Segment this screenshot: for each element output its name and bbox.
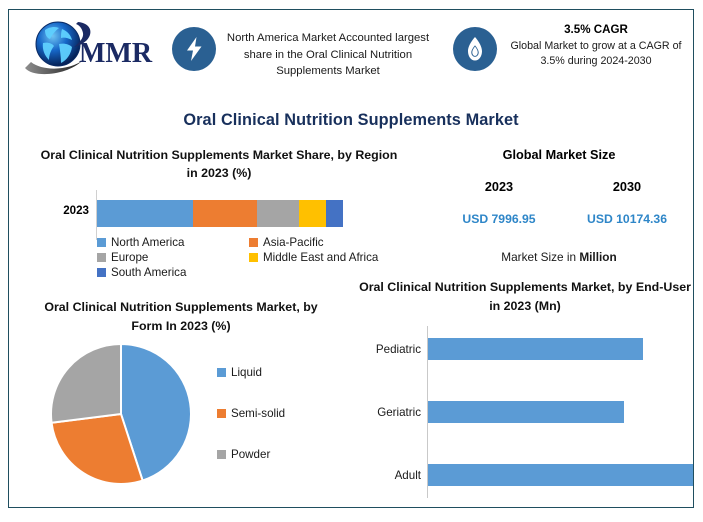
legend-label: North America [111, 236, 184, 249]
mmr-logo: MMR [21, 16, 169, 82]
global-market-size-title: Global Market Size [429, 148, 689, 162]
region-share-chart: Oral Clinical Nutrition Supplements Mark… [21, 146, 417, 286]
legend-swatch [97, 268, 106, 277]
form-share-chart: Oral Clinical Nutrition Supplements Mark… [21, 298, 351, 503]
legend-swatch [249, 238, 258, 247]
market-size-2023: 2023 USD 7996.95 [441, 180, 557, 226]
legend-label: South America [111, 266, 186, 279]
end-user-bar-track [428, 464, 693, 486]
end-user-bar [428, 464, 693, 486]
end-user-bar-track [428, 338, 693, 360]
infographic-canvas: MMR North America Market Accounted large… [8, 9, 694, 508]
region-segment [97, 200, 193, 227]
legend-swatch [97, 238, 106, 247]
region-chart-legend: North AmericaAsia-PacificEuropeMiddle Ea… [97, 236, 417, 279]
legend-label: Liquid [231, 366, 262, 379]
region-chart-category-label: 2023 [31, 204, 89, 217]
region-segment [257, 200, 299, 227]
region-legend-item: Asia-Pacific [249, 236, 417, 249]
header: MMR North America Market Accounted large… [9, 10, 693, 96]
region-segment [326, 200, 343, 227]
end-user-bar [428, 401, 624, 423]
cagr-value: 3.5% CAGR [503, 22, 689, 38]
end-user-plot: PediatricGeriatricAdult [357, 326, 693, 498]
end-user-category-label: Pediatric [357, 343, 427, 356]
legend-label: Middle East and Africa [263, 251, 378, 264]
legend-label: Powder [231, 448, 270, 461]
legend-swatch [217, 368, 226, 377]
market-size-unit-note: Market Size in Million [429, 250, 689, 264]
region-segment [193, 200, 257, 227]
end-user-bar-row: Pediatric [357, 332, 693, 366]
region-chart-title: Oral Clinical Nutrition Supplements Mark… [39, 146, 399, 182]
form-legend-item: Semi-solid [217, 407, 347, 420]
region-legend-item: South America [97, 266, 249, 279]
market-size-unit-prefix: Market Size in [501, 250, 579, 264]
global-market-size: Global Market Size 2023 USD 7996.95 2030… [429, 148, 689, 268]
market-size-2030-year: 2030 [569, 180, 685, 194]
region-legend-item: Middle East and Africa [249, 251, 417, 264]
market-size-unit-bold: Million [579, 250, 616, 264]
legend-label: Asia-Pacific [263, 236, 324, 249]
end-user-category-label: Geriatric [357, 406, 427, 419]
market-size-2030: 2030 USD 10174.36 [569, 180, 685, 226]
header-highlight-2-text: 3.5% CAGR Global Market to grow at a CAG… [503, 22, 689, 70]
page-title: Oral Clinical Nutrition Supplements Mark… [9, 111, 693, 130]
form-legend-item: Powder [217, 448, 347, 461]
end-user-chart-title: Oral Clinical Nutrition Supplements Mark… [357, 278, 693, 316]
lightning-bolt-icon [172, 27, 216, 71]
legend-swatch [97, 253, 106, 262]
legend-swatch [217, 450, 226, 459]
end-user-chart: Oral Clinical Nutrition Supplements Mark… [357, 278, 693, 504]
end-user-bar-row: Adult [357, 458, 693, 492]
end-user-bar-row: Geriatric [357, 395, 693, 429]
end-user-category-label: Adult [357, 469, 427, 482]
market-size-2023-value: USD 7996.95 [441, 212, 557, 226]
header-highlight-1-text: North America Market Accounted largest s… [221, 30, 435, 80]
pie-slice [51, 344, 121, 423]
end-user-bar [428, 338, 643, 360]
form-chart-legend: LiquidSemi-solidPowder [217, 366, 347, 489]
cagr-description: Global Market to grow at a CAGR of 3.5% … [510, 40, 681, 68]
end-user-bar-track [428, 401, 693, 423]
legend-label: Europe [111, 251, 148, 264]
legend-swatch [249, 253, 258, 262]
logo-wordmark: MMR [79, 38, 153, 69]
market-size-2030-value: USD 10174.36 [569, 212, 685, 226]
region-legend-item: Europe [97, 251, 249, 264]
form-legend-item: Liquid [217, 366, 347, 379]
globe-swoosh-logo: MMR [21, 16, 169, 82]
region-segment [299, 200, 326, 227]
form-chart-title: Oral Clinical Nutrition Supplements Mark… [31, 298, 331, 336]
legend-swatch [217, 409, 226, 418]
market-size-2023-year: 2023 [441, 180, 557, 194]
region-stacked-bar [97, 200, 343, 227]
flame-icon [453, 27, 497, 71]
region-legend-item: North America [97, 236, 249, 249]
legend-label: Semi-solid [231, 407, 285, 420]
form-pie [49, 342, 193, 486]
